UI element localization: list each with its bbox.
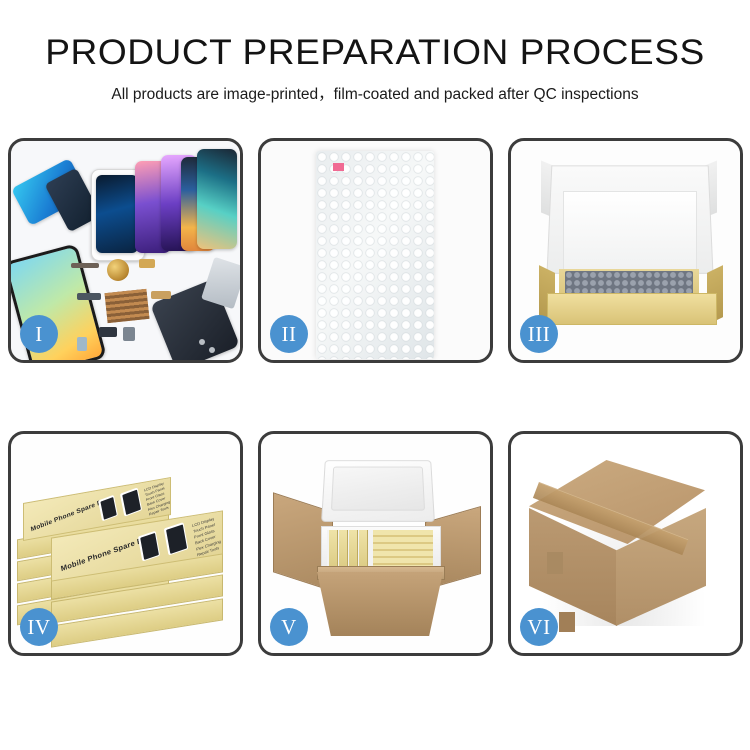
page-header: PRODUCT PREPARATION PROCESS All products…	[0, 0, 750, 104]
chip-array-icon	[105, 289, 150, 323]
step-badge-5: V	[270, 608, 308, 646]
screw-icon	[199, 339, 205, 345]
step-panel-2[interactable]: II	[258, 138, 493, 363]
step-badge-4: IV	[20, 608, 58, 646]
screen-display-icon	[96, 175, 138, 253]
process-step-grid: I II	[8, 138, 742, 656]
sim-tray-icon	[77, 337, 87, 351]
screw-icon	[209, 347, 215, 353]
step-panel-5[interactable]: V	[258, 431, 493, 656]
earpiece-part-icon	[71, 263, 99, 268]
speaker-module-icon	[107, 259, 129, 281]
page-title: PRODUCT PREPARATION PROCESS	[0, 32, 750, 74]
styrofoam-lid-inner-icon	[331, 467, 425, 511]
styrofoam-lid-icon	[321, 460, 435, 522]
box-print-screen-icon	[98, 495, 118, 522]
step-panel-3[interactable]: III	[508, 138, 743, 363]
charging-flex-icon	[151, 291, 171, 299]
box-print-screen-icon	[138, 531, 160, 562]
bubble-wrap-icon	[316, 151, 434, 359]
flex-cable-part-icon	[139, 259, 155, 268]
step-badge-2: II	[270, 315, 308, 353]
carton-tab-upper-icon	[547, 552, 563, 574]
box-print-screen-icon	[120, 487, 142, 516]
step-panel-4[interactable]: Mobile Phone Spare Parts LCD Display Tou…	[8, 431, 243, 656]
carton-body-icon	[317, 572, 443, 636]
step-badge-3: III	[520, 315, 558, 353]
box-front-panel-icon	[547, 293, 717, 325]
page-subtitle: All products are image-printed，film-coat…	[0, 82, 750, 104]
step-badge-1: I	[20, 315, 58, 353]
box-print-screen-icon	[164, 522, 189, 555]
vibrator-part-icon	[123, 327, 135, 341]
step-badge-6: VI	[520, 608, 558, 646]
step-panel-6[interactable]: VI	[508, 431, 743, 656]
phone-teal-icon	[197, 149, 237, 249]
camera-part-icon	[77, 293, 101, 300]
battery-connector-icon	[99, 327, 117, 337]
carton-tab-lower-icon	[559, 612, 575, 632]
step-panel-1[interactable]: I	[8, 138, 243, 363]
foam-pad-icon	[563, 191, 697, 275]
qc-sticker-icon	[333, 163, 344, 171]
